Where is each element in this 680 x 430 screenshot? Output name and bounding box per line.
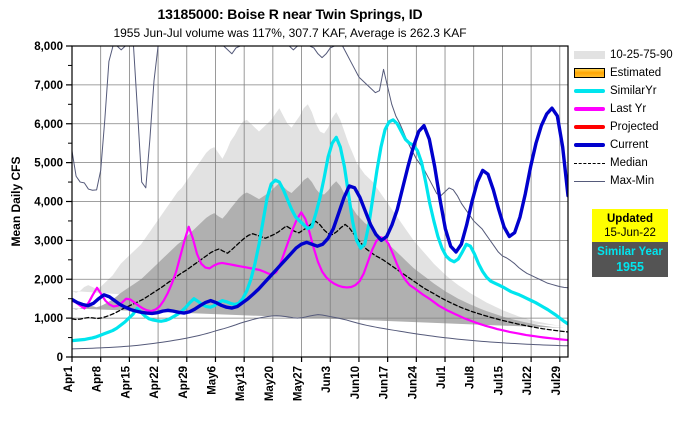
- x-axis-tick-label: Apr1: [63, 365, 75, 392]
- legend-item-last-yr: Last Yr: [573, 100, 680, 118]
- legend-label: Last Yr: [610, 103, 646, 115]
- legend-swatch: [573, 121, 606, 133]
- y-axis-tick-label: 6,000: [34, 119, 63, 131]
- x-axis-tick-label: Jun17: [379, 366, 391, 399]
- x-axis-tick-label: May27: [293, 366, 305, 401]
- y-axis-tick-label: 5,000: [34, 158, 63, 170]
- y-axis-tick-label: 0: [57, 352, 63, 364]
- legend-label: Projected: [610, 121, 659, 133]
- legend-swatch: [573, 175, 606, 187]
- legend-label: SimilarYr: [610, 85, 657, 97]
- x-axis-tick-label: May13: [235, 366, 247, 401]
- legend-item-10-25-75-90: 10-25-75-90: [573, 46, 680, 64]
- x-axis-tick-label: Jun3: [321, 366, 333, 393]
- x-axis-tick-label: Apr22: [149, 366, 161, 399]
- legend-swatch: [573, 85, 606, 97]
- legend-item-estimated: Estimated: [573, 64, 680, 82]
- x-axis-tick-label: Jun10: [350, 366, 362, 399]
- legend-item-median: Median: [573, 154, 680, 172]
- legend-label: 10-25-75-90: [610, 49, 673, 61]
- chart-root: 13185000: Boise R near Twin Springs, ID …: [0, 0, 680, 430]
- legend-item-current: Current: [573, 136, 680, 154]
- legend-label: Median: [610, 157, 648, 169]
- legend-swatch: [573, 157, 606, 169]
- legend-swatch: [573, 103, 606, 115]
- y-axis-title: Mean Daily CFS: [9, 156, 23, 246]
- updated-label: Updated: [607, 212, 653, 226]
- legend-label: Current: [610, 139, 648, 151]
- y-axis-tick-label: 1,000: [34, 313, 63, 325]
- x-axis-tick-label: Jul1: [436, 365, 448, 389]
- legend-item-projected: Projected: [573, 118, 680, 136]
- legend-swatch: [573, 67, 606, 79]
- x-axis-tick-label: Jul8: [465, 365, 477, 389]
- x-axis-tick-label: Apr15: [120, 365, 132, 398]
- y-axis-tick-label: 7,000: [34, 80, 63, 92]
- legend-item-max-min: Max-Min: [573, 172, 680, 190]
- similar-year-value: 1955: [616, 260, 644, 275]
- legend-label: Estimated: [610, 67, 661, 79]
- legend-swatch: [573, 139, 606, 151]
- y-axis-tick-label: 4,000: [34, 197, 63, 209]
- chart-legend: 10-25-75-90EstimatedSimilarYrLast YrProj…: [573, 46, 680, 190]
- x-axis-tick-label: Jun24: [407, 365, 419, 399]
- x-axis-tick-label: Jul22: [522, 366, 534, 395]
- legend-item-similaryr: SimilarYr: [573, 82, 680, 100]
- legend-swatch: [573, 49, 606, 61]
- x-axis-tick-label: Jul15: [493, 365, 505, 395]
- updated-badge: Updated 15-Jun-22: [592, 209, 668, 242]
- legend-label: Max-Min: [610, 175, 654, 187]
- x-axis-tick-label: May6: [207, 366, 219, 395]
- x-axis-tick-label: May20: [264, 366, 276, 401]
- y-axis-tick-label: 3,000: [34, 235, 63, 247]
- updated-date: 15-Jun-22: [604, 226, 656, 240]
- y-axis-tick-label: 8,000: [34, 41, 63, 53]
- similar-year-label: Similar Year: [597, 245, 663, 260]
- similar-year-badge: Similar Year 1955: [592, 242, 668, 277]
- x-axis-tick-label: Apr29: [178, 366, 190, 399]
- x-axis-tick-label: Apr8: [92, 365, 104, 392]
- y-axis-tick-label: 2,000: [34, 274, 63, 286]
- x-axis-tick-label: Jul29: [551, 366, 563, 395]
